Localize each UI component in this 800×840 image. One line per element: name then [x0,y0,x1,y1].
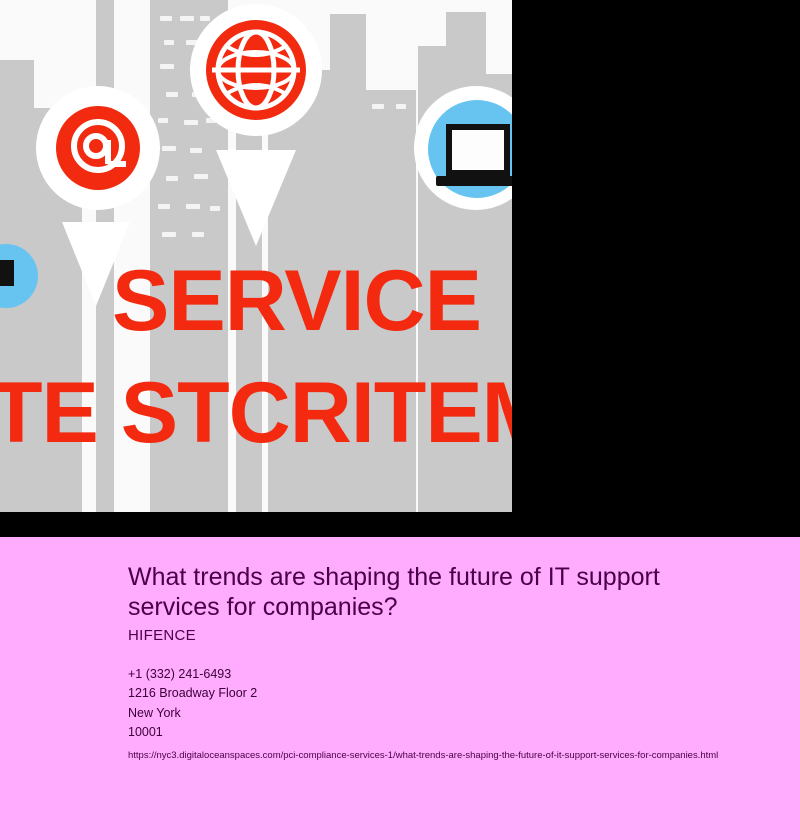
building-window [372,104,384,109]
laptop-screen [452,130,504,170]
page-title: What trends are shaping the future of IT… [128,563,728,622]
contact-city: New York [128,704,800,723]
building-window [184,120,198,125]
building-window [160,64,174,69]
source-url[interactable]: https://nyc3.digitaloceanspaces.com/pci-… [128,746,800,766]
building-window [162,146,176,151]
building-window [158,118,168,123]
laptop-base [436,176,512,186]
brand-name: HIFENCE [128,627,800,644]
contact-details: +1 (332) 241-6493 1216 Broadway Floor 2 … [128,665,800,743]
building-window [186,204,200,209]
building-window [164,40,174,45]
globe-icon [206,20,306,120]
contact-zip: 10001 [128,723,800,742]
info-panel-content: What trends are shaping the future of IT… [128,563,800,765]
contact-phone: +1 (332) 241-6493 [128,665,800,684]
building-window [166,92,178,97]
info-panel: What trends are shaping the future of IT… [0,537,800,840]
hero-image: SERVICE TE STCRITEM [0,0,512,512]
at-sign-icon [56,106,140,190]
hero-headline-line-2: TE STCRITEM [0,370,512,456]
globe-pin-tail [216,150,296,246]
building-window [396,104,406,109]
building-window [180,16,194,21]
building-window [194,174,208,179]
building-window [158,204,170,209]
hero-headline-line-1: SERVICE [112,258,481,344]
contact-street: 1216 Broadway Floor 2 [128,684,800,703]
partial-blue-circle-glyph [0,260,14,286]
building-window [160,16,172,21]
building-window [192,232,204,237]
building-window [190,148,202,153]
building-window [166,176,178,181]
building-window [162,232,176,237]
